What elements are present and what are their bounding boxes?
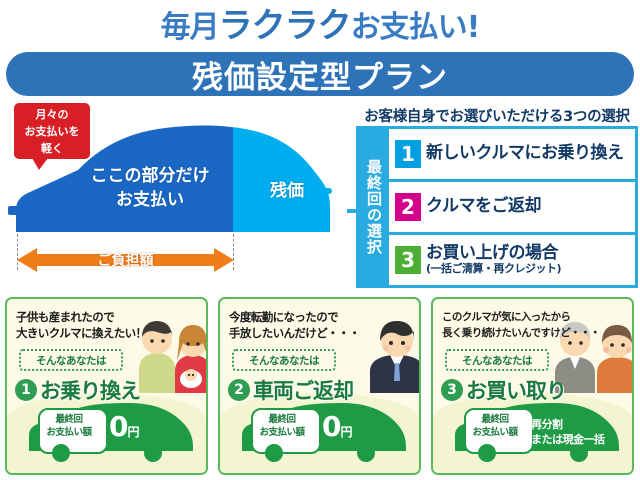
businessman-illustration <box>366 319 421 393</box>
final-payment-label-2a: 最終回 <box>268 414 295 425</box>
option-row-2[interactable]: 2 クルマをご返却 <box>389 182 635 235</box>
title-part-1: 毎月 <box>161 10 219 45</box>
panel-connector <box>347 209 361 213</box>
option-texts-1: 新しいクルマにお乗り換え <box>426 145 624 163</box>
amount-unit-1: 円 <box>127 425 139 439</box>
option-badge-1: 1 <box>395 140 421 168</box>
burden-amount-arrow: ご負担額 <box>17 247 234 273</box>
amount-alt-3a: 再分割 <box>531 418 563 431</box>
card-title-row-2: 2 車両ご返却 <box>228 375 353 405</box>
final-payment-label-3b: お支払い額 <box>472 427 517 438</box>
option-label-2: クルマをご返却 <box>426 198 541 216</box>
final-payment-label-1a: 最終回 <box>55 414 82 425</box>
card-quote-2-line2: 手放したいんだけど・・・ <box>229 326 360 340</box>
card-quote-3-line2: 長く乗り続けたいんですけど・・・ <box>442 327 600 339</box>
scenario-card-2-inner: 今度転勤になったので 手放したいんだけど・・・ そんなあなたは 2 車両ご返却 <box>218 297 421 475</box>
mini-car-amount-2: 0円 <box>322 410 353 443</box>
card-number-3: 3 <box>441 379 463 401</box>
residual-value-label: 残価 <box>252 176 322 201</box>
option-label-3: お買い上げの場合 <box>426 245 561 263</box>
payment-portion-label: ここの部分だけお支払い <box>70 164 230 212</box>
options-list: 1 新しいクルマにお乗り換え 2 クルマをご返却 3 お買い上げの場合 (一括 <box>389 129 635 285</box>
card-title-1: お乗り換え <box>40 375 140 405</box>
page-title: 毎月ラクラクお支払い! <box>0 0 640 48</box>
burden-amount-label: ご負担額 <box>17 247 234 273</box>
card-title-row-3: 3 お買い取り <box>441 375 566 405</box>
title-emphasis: ラクラク <box>219 6 351 46</box>
scenario-card-1[interactable]: 子供も産まれたので 大きいクルマに換えたい！ <box>0 292 213 480</box>
options-heading: お客様自身でお選びいただける3つの選択 <box>354 100 640 126</box>
card-number-1: 1 <box>15 379 37 401</box>
mini-car-front-text-1: 最終回 お支払い額 <box>37 413 101 439</box>
card-quote-3-line1: このクルマが気に入ったから <box>442 311 570 323</box>
card-quote-1-line1: 子供も産まれたので <box>16 310 114 324</box>
card-quote-2-line1: 今度転勤になったので <box>229 310 338 324</box>
card-title-row-1: 1 お乗り換え <box>15 375 140 405</box>
final-choice-sidebar-label: 最終回の選択 <box>359 159 389 255</box>
monthly-payment-bubble: 月々のお支払いを軽く <box>14 103 90 159</box>
option-texts-2: クルマをご返却 <box>426 198 541 216</box>
scenario-card-1-inner: 子供も産まれたので 大きいクルマに換えたい！ <box>5 297 208 475</box>
card-quote-1-line2: 大きいクルマに換えたい！ <box>16 326 146 340</box>
card-bubble-1: そんなあなたは <box>19 349 123 371</box>
car-diagram: 月々のお支払いを軽く ここの部分だけお支払い 残価 ご負担額 <box>0 100 352 292</box>
amount-alt-3b: または現金一括 <box>531 433 605 446</box>
scenario-card-3[interactable]: このクルマが気に入ったから 長く乗り続けたいんですけど・・・ <box>426 292 639 480</box>
card-bubble-2: そんなあなたは <box>232 349 336 371</box>
options-box: 最終回の選択 1 新しいクルマにお乗り換え 2 クルマをご返却 3 <box>356 126 638 288</box>
option-badge-2: 2 <box>395 193 421 221</box>
card-quote-2: 今度転勤になったので 手放したいんだけど・・・ <box>229 309 360 341</box>
option-texts-3: お買い上げの場合 (一括ご清算・再クレジット) <box>426 245 561 274</box>
final-choice-panel: お客様自身でお選びいただける3つの選択 最終回の選択 1 新しいクルマにお乗り換… <box>354 100 640 292</box>
card-title-2: 車両ご返却 <box>253 375 353 405</box>
mini-car-front-text-2: 最終回 お支払い額 <box>250 413 314 439</box>
final-payment-label-3a: 最終回 <box>481 414 508 425</box>
final-payment-label-2b: お支払い額 <box>259 427 304 438</box>
plan-name-banner: 残価設定型プラン <box>6 52 634 96</box>
card-quote-3: このクルマが気に入ったから 長く乗り続けたいんですけど・・・ <box>442 309 600 341</box>
final-choice-sidebar: 最終回の選択 <box>359 129 389 285</box>
amount-value-2: 0 <box>322 410 340 443</box>
card-bubble-3: そんなあなたは <box>445 349 549 371</box>
mini-car-amount-3: 再分割 または現金一括 <box>531 417 605 447</box>
amount-value-1: 0 <box>109 410 127 443</box>
header: 毎月ラクラクお支払い! 残価設定型プラン <box>0 0 640 100</box>
option-row-1[interactable]: 1 新しいクルマにお乗り換え <box>389 129 635 182</box>
card-number-2: 2 <box>228 379 250 401</box>
plan-name-label: 残価設定型プラン <box>192 52 448 97</box>
card-quote-1: 子供も産まれたので 大きいクルマに換えたい！ <box>16 309 146 341</box>
mini-car-amount-1: 0円 <box>109 410 140 443</box>
scenario-card-3-inner: このクルマが気に入ったから 長く乗り続けたいんですけど・・・ <box>431 297 634 475</box>
option-badge-3: 3 <box>395 246 421 274</box>
middle-section: 月々のお支払いを軽く ここの部分だけお支払い 残価 ご負担額 お客様自身でお選び… <box>0 100 640 292</box>
option-row-3[interactable]: 3 お買い上げの場合 (一括ご清算・再クレジット) <box>389 235 635 285</box>
scenario-card-2[interactable]: 今度転勤になったので 手放したいんだけど・・・ そんなあなたは 2 車両ご返却 <box>213 292 426 480</box>
mini-car-front-text-3: 最終回 お支払い額 <box>463 413 527 439</box>
option-label-1: 新しいクルマにお乗り換え <box>426 145 624 163</box>
final-payment-label-1b: お支払い額 <box>46 427 91 438</box>
option-sublabel-3: (一括ご清算・再クレジット) <box>426 263 561 275</box>
title-part-2: お支払い! <box>351 10 480 45</box>
card-title-3: お買い取り <box>466 375 566 405</box>
amount-unit-2: 円 <box>340 425 352 439</box>
scenario-cards: 子供も産まれたので 大きいクルマに換えたい！ <box>0 292 640 480</box>
